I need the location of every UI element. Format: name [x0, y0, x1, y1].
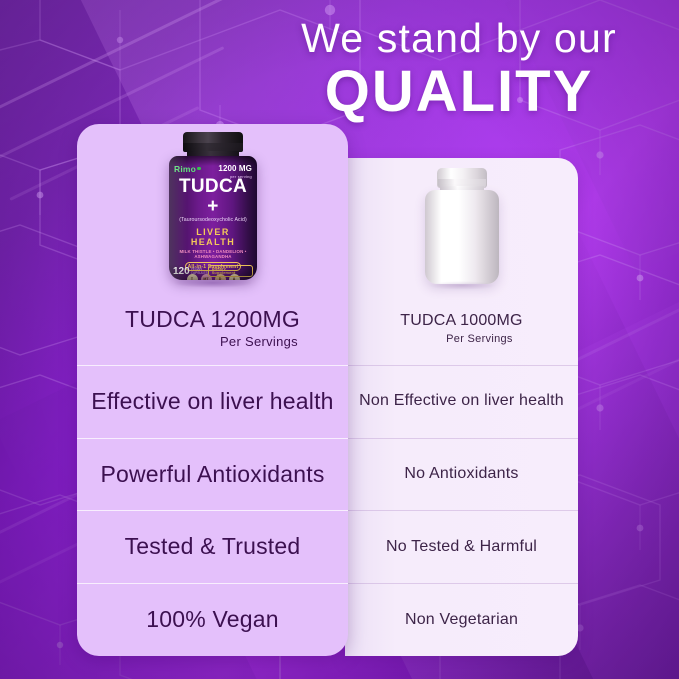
competitor-bottle-body: [425, 190, 499, 284]
product-cell-3: Tested & Trusted: [125, 533, 301, 560]
product-title: TUDCA +: [174, 177, 252, 217]
headline-line-1: We stand by our: [250, 14, 668, 62]
table-row: No Antioxidants: [345, 438, 578, 511]
capsule-count-number: 120: [173, 267, 190, 277]
competitor-cell-2: No Antioxidants: [404, 464, 518, 484]
table-row: Non Vegetarian: [345, 583, 578, 656]
table-row: 100% Vegan: [77, 583, 348, 656]
product-bottle-shadow: [173, 278, 253, 288]
product-feature-rows: TUDCA 1200MG Per Servings Effective on l…: [77, 292, 348, 656]
product-column: Rimo 1200 MG per serving TUDCA + (Taurou…: [77, 124, 348, 656]
all-in-one-badge: All-in-1 Supplement: [185, 262, 241, 271]
competitor-feature-rows: TUDCA 1000MG Per Servings Non Effective …: [345, 292, 578, 656]
table-row: TUDCA 1200MG Per Servings: [77, 292, 348, 365]
capsule-count: 120 VEGAN CAPSULES: [173, 267, 208, 277]
dietary-supplement-badge: Dietary Supplement: [208, 265, 253, 277]
label-bottom-row: 120 VEGAN CAPSULES Dietary Supplement: [173, 265, 253, 277]
competitor-bottle-shadow: [429, 281, 495, 290]
product-bottle-image: Rimo 1200 MG per serving TUDCA + (Taurou…: [161, 132, 265, 284]
headline: We stand by our QUALITY: [250, 14, 668, 122]
label-brand-row: Rimo 1200 MG per serving: [174, 162, 252, 175]
product-cell-1: Effective on liver health: [91, 388, 333, 414]
product-bottle-cap: [183, 132, 243, 152]
table-row: Effective on liver health: [77, 365, 348, 438]
table-row: No Tested & Harmful: [345, 510, 578, 583]
competitor-bottle-area: [345, 158, 578, 292]
competitor-column: TUDCA 1000MG Per Servings Non Effective …: [345, 158, 578, 656]
capsule-count-unit: VEGAN CAPSULES: [191, 268, 208, 275]
product-benefit: LIVER HEALTH: [174, 227, 252, 247]
product-cell-0-sub: Per Servings: [125, 334, 300, 350]
product-chemical-name: (Tauroursodeoxycholic Acid): [174, 217, 252, 223]
product-cell-0-main: TUDCA 1200MG: [125, 306, 300, 332]
product-bottle-label: Rimo 1200 MG per serving TUDCA + (Taurou…: [169, 162, 257, 278]
competitor-cell-0-sub: Per Servings: [400, 332, 522, 346]
product-ingredients: MILK THISTLE • DANDELION • ASHWAGANDHA: [174, 249, 252, 259]
headline-line-2: QUALITY: [250, 62, 668, 122]
competitor-cell-0: TUDCA 1000MG Per Servings: [400, 311, 522, 346]
product-bottle-area: Rimo 1200 MG per serving TUDCA + (Taurou…: [77, 124, 348, 292]
table-row: Powerful Antioxidants: [77, 438, 348, 511]
competitor-bottle-image: [419, 168, 505, 288]
competitor-cell-3: No Tested & Harmful: [386, 537, 537, 557]
competitor-cell-1: Non Effective on liver health: [359, 391, 564, 411]
competitor-cell-0-main: TUDCA 1000MG: [400, 312, 522, 329]
capsule-unit-line-1: VEGAN: [191, 268, 208, 272]
brand-dot-icon: [197, 167, 201, 171]
competitor-cell-4: Non Vegetarian: [405, 610, 518, 630]
brand-logo: Rimo: [174, 164, 201, 174]
capsule-unit-line-2: CAPSULES: [191, 272, 208, 276]
competitor-bottle-cap: [437, 168, 487, 188]
comparison-table: TUDCA 1000MG Per Servings Non Effective …: [77, 124, 578, 656]
product-cell-2: Powerful Antioxidants: [100, 461, 324, 487]
table-row: Non Effective on liver health: [345, 365, 578, 438]
table-row: TUDCA 1000MG Per Servings: [345, 292, 578, 365]
product-cell-4: 100% Vegan: [146, 606, 278, 633]
dose-amount: 1200 MG: [218, 164, 252, 173]
brand-name: Rimo: [174, 164, 196, 174]
product-cell-0: TUDCA 1200MG Per Servings: [125, 306, 300, 350]
table-row: Tested & Trusted: [77, 510, 348, 583]
product-bottle-body: Rimo 1200 MG per serving TUDCA + (Taurou…: [169, 156, 257, 280]
